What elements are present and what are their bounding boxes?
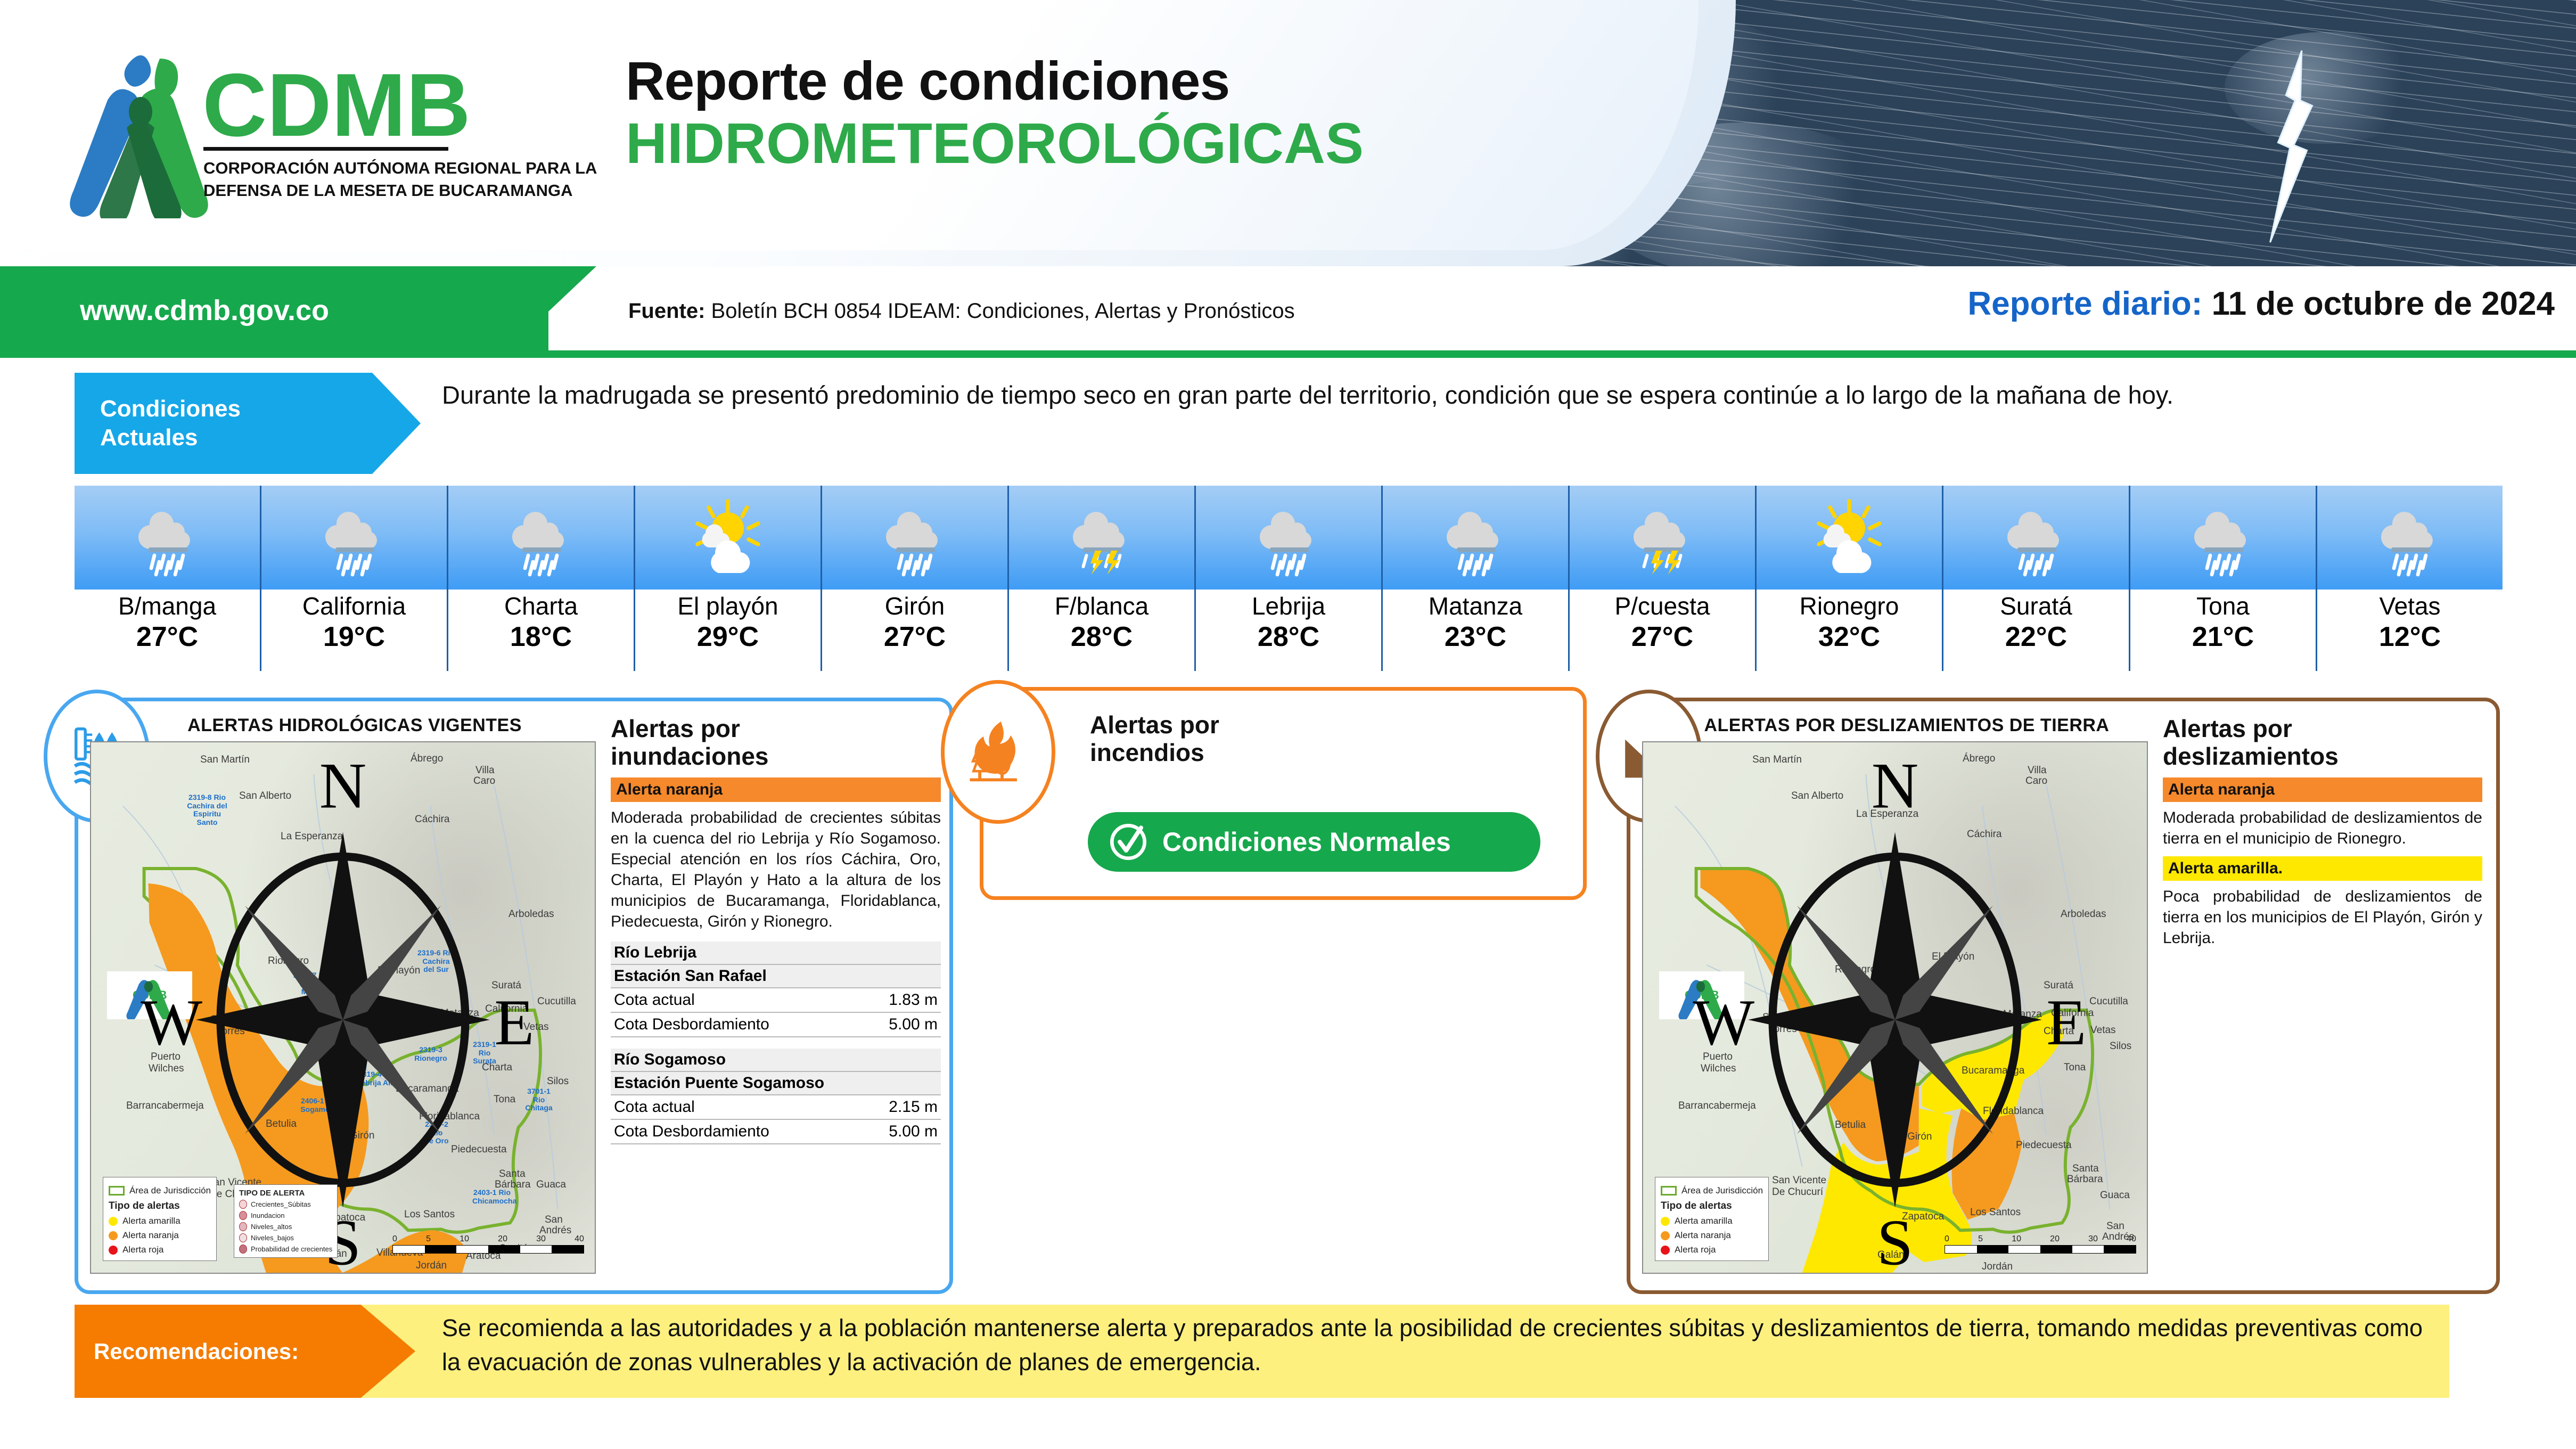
weather-icon-slot xyxy=(2317,486,2503,590)
cdmb-logo: CDMB CORPORACIÓN AUTÓNOMA REGIONAL PARA … xyxy=(69,43,602,218)
svg-text:E: E xyxy=(2046,986,2086,1059)
weather-temp: 27°C xyxy=(75,620,260,653)
scale-tick-3: 20 xyxy=(498,1234,507,1244)
station-name-0: Estación San Rafael xyxy=(611,964,941,988)
weather-city: Vetas xyxy=(2317,592,2503,620)
weather-info: Tona21°C xyxy=(2130,590,2316,671)
weather-temp: 21°C xyxy=(2130,620,2316,653)
weather-city: F/blanca xyxy=(1009,592,1194,620)
lightning-icon xyxy=(2254,48,2334,245)
landslide-map-title: ALERTAS POR DESLIZAMIENTOS DE TIERRA xyxy=(1642,713,2148,741)
weather-info: Matanza23°C xyxy=(1383,590,1568,671)
recommendations-text: Se recomienda a las autoridades y a la p… xyxy=(442,1311,2423,1379)
weather-temp: 23°C xyxy=(1383,620,1568,653)
scale-tick-1: 5 xyxy=(1978,1234,1983,1244)
weather-info: El playón29°C xyxy=(635,590,821,671)
flood-map-alert-type-legend: TIPO DE ALERTA Crecientes_Súbitas Inunda… xyxy=(234,1184,338,1258)
legend-item-yellow: Alerta amarilla xyxy=(1675,1216,1733,1226)
alert-type-2: Niveles_altos xyxy=(251,1223,292,1231)
alert-type-1: Inundacion xyxy=(251,1211,285,1219)
rain-icon xyxy=(1435,498,1515,578)
weather-info: Lebrija28°C xyxy=(1196,590,1381,671)
weather-cell: Matanza23°C xyxy=(1383,486,1570,671)
weather-city: Matanza xyxy=(1383,592,1568,620)
weather-info: Rionegro32°C xyxy=(1757,590,1942,671)
landslide-alert-panel[interactable]: ALERTAS POR DESLIZAMIENTOS DE TIERRA xyxy=(1627,698,2500,1294)
flood-title-line1: Alertas por xyxy=(611,715,941,743)
flood-panel-title: Alertas por inundaciones xyxy=(611,715,941,770)
weather-city: El playón xyxy=(635,592,821,620)
scale-tick-1: 5 xyxy=(426,1234,431,1244)
flood-alert-text: Moderada probabilidad de crecientes súbi… xyxy=(611,807,941,932)
title-line-1: Reporte de condiciones xyxy=(626,53,1691,109)
info-bar: www.cdmb.gov.co Fuente: Boletín BCH 0854… xyxy=(0,266,2576,357)
page-title: Reporte de condiciones HIDROMETEOROLÓGIC… xyxy=(626,53,1691,174)
rain-icon xyxy=(2370,498,2450,578)
rain-icon xyxy=(875,498,955,578)
scale-tick-4: 30 xyxy=(2088,1234,2098,1244)
weather-cell: P/cuesta27°C xyxy=(1570,486,1757,671)
website-link[interactable]: www.cdmb.gov.co xyxy=(80,294,329,327)
weather-icon-slot xyxy=(822,486,1007,590)
landslide-alert-chip-0: Alerta naranja xyxy=(2163,777,2482,802)
row-label: Cota actual xyxy=(611,988,857,1012)
weather-info: Vetas12°C xyxy=(2317,590,2503,671)
legend-title: Tipo de alertas xyxy=(109,1200,211,1212)
legend-item-red: Alerta roja xyxy=(1675,1245,1716,1255)
check-circle-icon xyxy=(1107,821,1150,863)
table-row: Cota actual1.83 m xyxy=(611,988,941,1012)
weather-info: B/manga27°C xyxy=(75,590,260,671)
weather-cell: Tona21°C xyxy=(2130,486,2317,671)
weather-cell: Suratá22°C xyxy=(1943,486,2130,671)
weather-temp: 27°C xyxy=(1570,620,1755,653)
weather-icon-slot xyxy=(635,486,821,590)
weather-city: California xyxy=(261,592,447,620)
fire-status-badge: Condiciones Normales xyxy=(1088,812,1540,872)
recommendations-bar: Recomendaciones: Se recomienda a las aut… xyxy=(75,1305,2503,1411)
weather-temp: 27°C xyxy=(822,620,1007,653)
weather-city: Girón xyxy=(822,592,1007,620)
legend-item-yellow: Alerta amarilla xyxy=(122,1216,181,1226)
legend-item-orange: Alerta naranja xyxy=(1675,1230,1731,1241)
flood-alert-panel[interactable]: ALERTAS HIDROLÓGICAS VIGENTES xyxy=(75,698,953,1294)
landslide-panel-text: Alertas por deslizamientos Alerta naranj… xyxy=(2163,715,2482,948)
landslide-title-line1: Alertas por xyxy=(2163,715,2482,743)
weather-temp: 18°C xyxy=(448,620,634,653)
weather-icon-slot xyxy=(1757,486,1942,590)
flood-map-scalebar: 0 5 10 20 30 40 xyxy=(392,1234,584,1254)
table-row: Cota actual2.15 m xyxy=(611,1095,941,1119)
weather-cell: Girón27°C xyxy=(822,486,1009,671)
station-name-1: Estación Puente Sogamoso xyxy=(611,1071,941,1095)
weather-city: Lebrija xyxy=(1196,592,1381,620)
weather-temp: 28°C xyxy=(1009,620,1194,653)
weather-info: F/blanca28°C xyxy=(1009,590,1194,671)
logo-subtitle-line1: CORPORACIÓN AUTÓNOMA REGIONAL PARA LA xyxy=(203,158,597,177)
jurisdiction-label: Área de Jurisdicción xyxy=(129,1185,211,1196)
current-conditions-text: Durante la madrugada se presentó predomi… xyxy=(442,378,2503,413)
rain-icon xyxy=(1249,498,1328,578)
weather-icon-slot xyxy=(448,486,634,590)
page-header: CDMB CORPORACIÓN AUTÓNOMA REGIONAL PARA … xyxy=(0,0,2576,266)
svg-text:CDMB: CDMB xyxy=(202,55,471,155)
weather-city: P/cuesta xyxy=(1570,592,1755,620)
weather-city: Suratá xyxy=(1943,592,2129,620)
scale-tick-5: 40 xyxy=(575,1234,584,1244)
landslide-title-line2: deslizamientos xyxy=(2163,743,2482,771)
weather-info: Suratá22°C xyxy=(1943,590,2129,671)
alert-panels: ALERTAS HIDROLÓGICAS VIGENTES xyxy=(0,687,2576,1289)
weather-cell: Charta18°C xyxy=(448,486,635,671)
current-conditions-tag-line2: Actuales xyxy=(100,423,421,452)
table-row: Cota Desbordamiento5.00 m xyxy=(611,1119,941,1144)
scale-tick-2: 10 xyxy=(460,1234,469,1244)
alert-type-title: TIPO DE ALERTA xyxy=(239,1189,332,1198)
logo-subtitle-line2: DEFENSA DE LA MESETA DE BUCARAMANGA xyxy=(203,181,573,200)
landslide-map-scalebar: 0 5 10 20 30 40 xyxy=(1945,1234,2136,1254)
flood-map[interactable]: ALERTAS HIDROLÓGICAS VIGENTES xyxy=(90,713,596,1282)
weather-icon-slot xyxy=(261,486,447,590)
jurisdiction-swatch xyxy=(1661,1186,1677,1196)
scale-tick-0: 0 xyxy=(392,1234,397,1244)
rain-icon xyxy=(314,498,394,578)
row-label: Cota Desbordamiento xyxy=(611,1119,857,1144)
row-value: 5.00 m xyxy=(857,1119,941,1144)
flood-map-canvas: San Martín San Alberto Ábrego Villa Caro… xyxy=(90,741,596,1274)
landslide-map-legend: Área de Jurisdicción Tipo de alertas Ale… xyxy=(1655,1177,1769,1261)
landslide-alert-text-0: Moderada probabilidad de deslizamientos … xyxy=(2163,807,2482,849)
weather-icon-slot xyxy=(75,486,260,590)
svg-text:W: W xyxy=(141,986,202,1059)
jurisdiction-label: Área de Jurisdicción xyxy=(1681,1185,1763,1196)
rain-icon xyxy=(501,498,581,578)
weather-icon-slot xyxy=(1383,486,1568,590)
svg-text:W: W xyxy=(1693,986,1754,1059)
svg-text:E: E xyxy=(494,986,534,1059)
source-value: Boletín BCH 0854 IDEAM: Condiciones, Ale… xyxy=(705,299,1294,323)
thunderstorm-icon xyxy=(1622,498,1702,578)
flood-map-title: ALERTAS HIDROLÓGICAS VIGENTES xyxy=(90,713,596,741)
weather-info: California19°C xyxy=(261,590,447,671)
alert-type-4: Probabilidad de crecientes xyxy=(251,1245,332,1253)
weather-city: B/manga xyxy=(75,592,260,620)
flood-alert-chip: Alerta naranja xyxy=(611,777,941,802)
current-conditions-tag: Condiciones Actuales xyxy=(75,373,421,474)
sun-cloud-icon xyxy=(688,498,768,578)
rain-icon xyxy=(1996,498,2076,578)
weather-temp: 12°C xyxy=(2317,620,2503,653)
landslide-map[interactable]: ALERTAS POR DESLIZAMIENTOS DE TIERRA xyxy=(1642,713,2148,1282)
landslide-alert-text-1: Poca probabilidad de deslizamientos de t… xyxy=(2163,886,2482,948)
fire-title-line2: incendios xyxy=(1090,739,1219,766)
river-name-0: Río Lebrija xyxy=(611,942,941,964)
alert-type-3: Niveles_bajos xyxy=(251,1234,294,1242)
weather-city: Charta xyxy=(448,592,634,620)
landslide-panel-title: Alertas por deslizamientos xyxy=(2163,715,2482,770)
weather-icon-slot xyxy=(1009,486,1194,590)
weather-temp: 19°C xyxy=(261,620,447,653)
sun-cloud-icon xyxy=(1809,498,1889,578)
weather-city: Rionegro xyxy=(1757,592,1942,620)
weather-cell: Vetas12°C xyxy=(2317,486,2503,671)
flood-panel-text: Alertas por inundaciones Alerta naranja … xyxy=(611,715,941,1144)
report-date: Reporte diario: 11 de octubre de 2024 xyxy=(1967,285,2555,323)
landslide-alert-chip-1: Alerta amarilla. xyxy=(2163,856,2482,881)
weather-cell: B/manga27°C xyxy=(75,486,261,671)
svg-text:N: N xyxy=(319,750,367,822)
legend-item-orange: Alerta naranja xyxy=(122,1230,179,1241)
forest-fire-icon xyxy=(941,680,1055,824)
weather-cell: El playón29°C xyxy=(635,486,822,671)
scale-tick-0: 0 xyxy=(1945,1234,1949,1244)
row-value: 5.00 m xyxy=(857,1012,941,1037)
current-conditions-tag-line1: Condiciones xyxy=(100,395,421,423)
current-conditions: Condiciones Actuales Durante la madrugad… xyxy=(75,373,2503,474)
fire-title-line1: Alertas por xyxy=(1090,711,1219,739)
report-date-value: 11 de octubre de 2024 xyxy=(2202,285,2555,322)
weather-info: P/cuesta27°C xyxy=(1570,590,1755,671)
landslide-map-canvas: San Martín San Alberto Ábrego Villa Caro… xyxy=(1642,741,2148,1274)
legend-item-red: Alerta roja xyxy=(122,1245,163,1255)
row-label: Cota actual xyxy=(611,1095,857,1119)
thunderstorm-icon xyxy=(1062,498,1142,578)
weather-cell: Rionegro32°C xyxy=(1757,486,1943,671)
row-value: 2.15 m xyxy=(857,1095,941,1119)
title-line-2: HIDROMETEOROLÓGICAS xyxy=(626,113,1691,174)
flood-title-line2: inundaciones xyxy=(611,743,941,771)
weather-icon-slot xyxy=(2130,486,2316,590)
rain-icon xyxy=(2183,498,2263,578)
fire-status-text: Condiciones Normales xyxy=(1162,826,1451,857)
flood-map-legend: Área de Jurisdicción Tipo de alertas Ale… xyxy=(103,1177,217,1261)
row-label: Cota Desbordamiento xyxy=(611,1012,857,1037)
river-name-1: Río Sogamoso xyxy=(611,1049,941,1071)
fire-alert-panel[interactable]: Alertas por incendios Condiciones Normal… xyxy=(980,687,1587,900)
weather-temp: 32°C xyxy=(1757,620,1942,653)
weather-info: Girón27°C xyxy=(822,590,1007,671)
rain-icon xyxy=(127,498,207,578)
jurisdiction-swatch xyxy=(109,1186,125,1196)
legend-title: Tipo de alertas xyxy=(1661,1200,1763,1212)
weather-cell: California19°C xyxy=(261,486,448,671)
report-page: CDMB CORPORACIÓN AUTÓNOMA REGIONAL PARA … xyxy=(0,0,2576,1449)
weather-icon-slot xyxy=(1943,486,2129,590)
alert-type-0: Crecientes_Súbitas xyxy=(251,1200,311,1208)
fire-panel-title: Alertas por incendios xyxy=(1090,711,1219,767)
river-levels-table: Río Lebrija Estación San Rafael Cota act… xyxy=(611,942,941,1144)
weather-city: Tona xyxy=(2130,592,2316,620)
weather-icon-slot xyxy=(1196,486,1381,590)
scale-tick-3: 20 xyxy=(2050,1234,2060,1244)
weather-cell: Lebrija28°C xyxy=(1196,486,1383,671)
scale-tick-4: 30 xyxy=(536,1234,546,1244)
weather-temp: 28°C xyxy=(1196,620,1381,653)
svg-text:N: N xyxy=(1872,750,1919,822)
recommendations-tag: Recomendaciones: xyxy=(75,1305,415,1398)
table-row: Cota Desbordamiento5.00 m xyxy=(611,1012,941,1037)
report-date-label: Reporte diario: xyxy=(1967,285,2202,322)
row-value: 1.83 m xyxy=(857,988,941,1012)
weather-temp: 22°C xyxy=(1943,620,2129,653)
source-text: Fuente: Boletín BCH 0854 IDEAM: Condicio… xyxy=(628,299,1295,323)
source-label: Fuente: xyxy=(628,299,705,323)
weather-cell: F/blanca28°C xyxy=(1009,486,1196,671)
weather-icon-slot xyxy=(1570,486,1755,590)
weather-info: Charta18°C xyxy=(448,590,634,671)
scale-tick-2: 10 xyxy=(2012,1234,2021,1244)
scale-tick-5: 40 xyxy=(2127,1234,2136,1244)
svg-text:S: S xyxy=(1877,1207,1913,1273)
weather-strip: B/manga27°C California19°C Charta18°C xyxy=(75,486,2503,671)
weather-temp: 29°C xyxy=(635,620,821,653)
